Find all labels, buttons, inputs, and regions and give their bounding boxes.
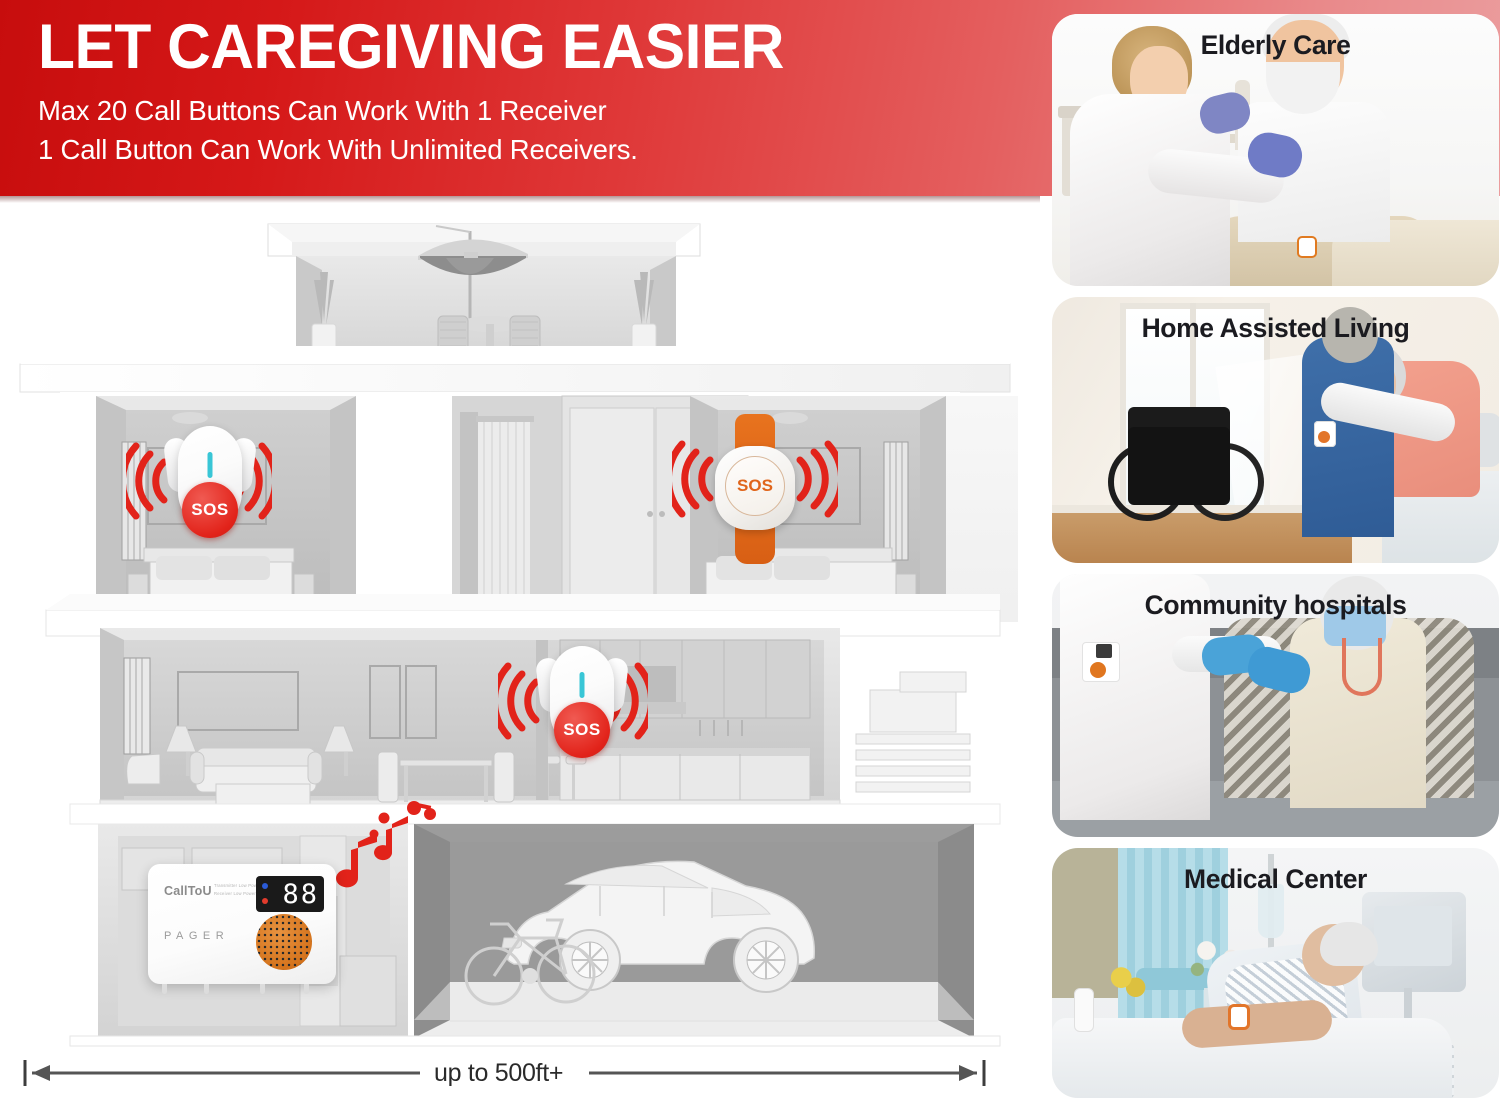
pager-receiver[interactable]: CallToU Transmitter Low Power Receiver L…: [148, 864, 336, 984]
use-case-card-elderly-care[interactable]: Elderly Care: [1052, 14, 1499, 286]
call-button-left-bedroom[interactable]: SOS: [166, 426, 254, 544]
call-button-living-room[interactable]: SOS: [538, 646, 626, 764]
pager-display-screen: 88: [256, 876, 324, 912]
led-indicator-icon: [208, 452, 213, 478]
card-title-home-assisted-living: Home Assisted Living: [1052, 313, 1499, 344]
sos-button-label: SOS: [563, 720, 600, 740]
use-case-card-column: Elderly Care: [1030, 0, 1500, 1104]
infographic-page: LET CAREGIVING EASIER Max 20 Call Button…: [0, 0, 1500, 1104]
use-case-card-community-hospitals[interactable]: Community hospitals: [1052, 574, 1499, 837]
use-case-card-medical-center[interactable]: Medical Center: [1052, 848, 1499, 1098]
card-title-elderly-care: Elderly Care: [1052, 30, 1499, 61]
speaker-grille-icon: [256, 914, 312, 970]
range-arrow-left: [22, 1058, 422, 1088]
card-title-community-hospitals: Community hospitals: [1052, 590, 1499, 621]
pager-display-value: 88: [282, 881, 319, 908]
sos-button[interactable]: SOS: [182, 482, 238, 538]
sos-button-label: SOS: [191, 500, 228, 520]
house-cutaway-illustration: SOS SOS: [0, 196, 1030, 1104]
card-title-medical-center: Medical Center: [1052, 864, 1499, 895]
range-label: up to 500ft+: [422, 1059, 575, 1088]
transmitter-low-power-led-icon: [262, 883, 268, 889]
pager-indicator-label-receiver: Receiver Low Power: [214, 890, 261, 898]
range-arrow-right: [587, 1058, 987, 1088]
wearable-sos-watch-icon: [1297, 236, 1317, 258]
call-remote-icon: [1074, 988, 1094, 1032]
range-dimension-indicator: up to 500ft+: [22, 1056, 987, 1090]
pager-product-word: PAGER: [164, 930, 229, 942]
use-case-card-home-assisted-living[interactable]: Home Assisted Living: [1052, 297, 1499, 563]
sos-watch-right-bedroom[interactable]: SOS: [696, 414, 814, 564]
pager-indicator-labels: Transmitter Low Power Receiver Low Power: [214, 882, 261, 898]
pager-brand-label: CallToU: [164, 884, 212, 898]
page-title: LET CAREGIVING EASIER: [38, 16, 940, 79]
receiver-low-power-led-icon: [262, 898, 268, 904]
pager-stand-feet: [162, 984, 312, 994]
header-subtitle-line-1: Max 20 Call Buttons Can Work With 1 Rece…: [38, 92, 978, 129]
header-subtitle-line-2: 1 Call Button Can Work With Unlimited Re…: [38, 131, 978, 168]
wearable-sos-watch-icon: [1228, 1004, 1250, 1030]
sos-button[interactable]: SOS: [554, 702, 610, 758]
pager-indicator-label-transmitter: Transmitter Low Power: [214, 882, 261, 890]
sound-notes-icon: [330, 800, 440, 895]
led-indicator-icon: [580, 672, 585, 698]
header-text-block: LET CAREGIVING EASIER Max 20 Call Button…: [38, 16, 978, 169]
watch-sos-face[interactable]: SOS: [725, 456, 785, 516]
watch-sos-label: SOS: [737, 476, 773, 496]
